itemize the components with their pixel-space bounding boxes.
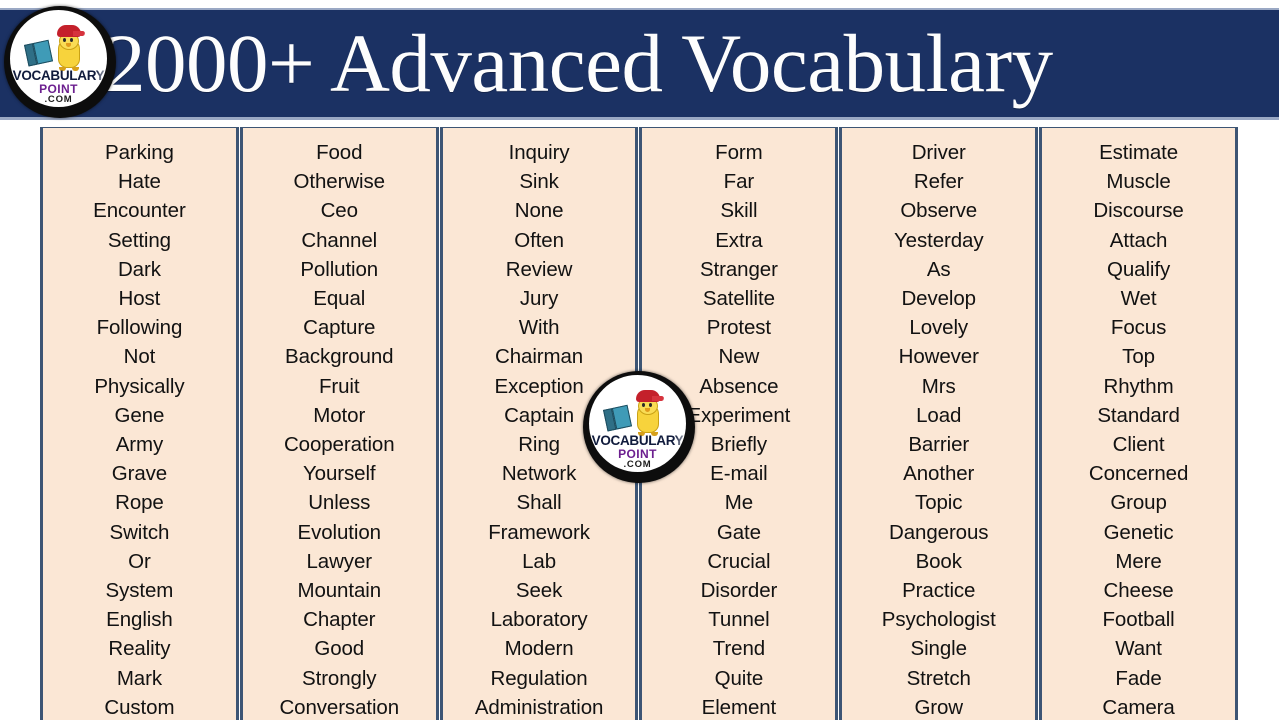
- vocabulary-word: Another: [842, 459, 1035, 488]
- vocabulary-word: English: [43, 605, 236, 634]
- vocabulary-word: Shall: [443, 488, 636, 517]
- vocabulary-word: Yesterday: [842, 226, 1035, 255]
- vocabulary-word: Group: [1042, 488, 1235, 517]
- vocabulary-word: Strongly: [243, 664, 436, 693]
- vocabulary-word: Regulation: [443, 664, 636, 693]
- vocabulary-word: Single: [842, 634, 1035, 663]
- vocabulary-word: Extra: [642, 226, 835, 255]
- vocabulary-word: Gene: [43, 401, 236, 430]
- vocabulary-word: Cooperation: [243, 430, 436, 459]
- vocabulary-word: Stranger: [642, 255, 835, 284]
- vocabulary-word: Concerned: [1042, 459, 1235, 488]
- vocabulary-word: Fruit: [243, 372, 436, 401]
- vocabulary-word: Sink: [443, 167, 636, 196]
- vocabulary-word: Army: [43, 430, 236, 459]
- vocabulary-word: Switch: [43, 518, 236, 547]
- vocabulary-word: Trend: [642, 634, 835, 663]
- vocabulary-word: Or: [43, 547, 236, 576]
- watermark-book-icon: [603, 405, 633, 432]
- vocabulary-word: Motor: [243, 401, 436, 430]
- vocabulary-word: Food: [243, 138, 436, 167]
- vocabulary-word: Often: [443, 226, 636, 255]
- book-icon: [24, 40, 54, 67]
- vocabulary-word: Ceo: [243, 196, 436, 225]
- vocabulary-word: Chairman: [443, 342, 636, 371]
- watermark-bird-mascot-icon: [633, 389, 663, 437]
- vocabulary-word: Psychologist: [842, 605, 1035, 634]
- vocabulary-word: Fade: [1042, 664, 1235, 693]
- logo-disc: VOCABULARY POINT .COM: [10, 10, 107, 107]
- vocabulary-word: Framework: [443, 518, 636, 547]
- vocabulary-word: Rope: [43, 488, 236, 517]
- vocabulary-word: System: [43, 576, 236, 605]
- vocabulary-word: None: [443, 196, 636, 225]
- vocabulary-word: Grow: [842, 693, 1035, 720]
- vocabulary-word: Wet: [1042, 284, 1235, 313]
- logo-text-vocabulary: VOCABULARY: [10, 68, 107, 83]
- vocabulary-word: Element: [642, 693, 835, 720]
- page-title: 2000+ Advanced Vocabulary: [104, 22, 1053, 105]
- vocabulary-word: Crucial: [642, 547, 835, 576]
- vocabulary-word: Background: [243, 342, 436, 371]
- vocabulary-word: Genetic: [1042, 518, 1235, 547]
- vocabulary-word: Quite: [642, 664, 835, 693]
- vocabulary-word: Encounter: [43, 196, 236, 225]
- vocabulary-word: Channel: [243, 226, 436, 255]
- vocabulary-word: Modern: [443, 634, 636, 663]
- vocabulary-word: Me: [642, 488, 835, 517]
- vocabulary-word: Pollution: [243, 255, 436, 284]
- vocabulary-word: Chapter: [243, 605, 436, 634]
- vocabulary-word: Far: [642, 167, 835, 196]
- vocabulary-word: Lab: [443, 547, 636, 576]
- vocabulary-word: Topic: [842, 488, 1035, 517]
- word-column: EstimateMuscleDiscourseAttachQualifyWetF…: [1039, 127, 1238, 720]
- vocabulary-word: Develop: [842, 284, 1035, 313]
- vocabulary-word: Mark: [43, 664, 236, 693]
- vocabulary-word: Host: [43, 284, 236, 313]
- bird-mascot-icon: [54, 24, 84, 72]
- vocabulary-word: Reality: [43, 634, 236, 663]
- vocabulary-word: Equal: [243, 284, 436, 313]
- vocabulary-word: Want: [1042, 634, 1235, 663]
- vocabulary-word: However: [842, 342, 1035, 371]
- vocabulary-word: Book: [842, 547, 1035, 576]
- vocabulary-word: Administration: [443, 693, 636, 720]
- brand-logo-icon: VOCABULARY POINT .COM: [4, 6, 116, 118]
- vocabulary-word: Capture: [243, 313, 436, 342]
- watermark-logo-disc: VOCABULARY POINT .COM: [589, 375, 686, 472]
- vocabulary-word: Practice: [842, 576, 1035, 605]
- vocabulary-word: Setting: [43, 226, 236, 255]
- vocabulary-word: Unless: [243, 488, 436, 517]
- word-column: DriverReferObserveYesterdayAsDevelopLove…: [839, 127, 1038, 720]
- vocabulary-word: Muscle: [1042, 167, 1235, 196]
- vocabulary-word: Parking: [43, 138, 236, 167]
- vocabulary-word: Discourse: [1042, 196, 1235, 225]
- vocabulary-word: Client: [1042, 430, 1235, 459]
- vocabulary-word: Skill: [642, 196, 835, 225]
- watermark-logo-icon: VOCABULARY POINT .COM: [583, 371, 695, 483]
- vocabulary-word: Inquiry: [443, 138, 636, 167]
- vocabulary-word: Dark: [43, 255, 236, 284]
- vocabulary-word: Seek: [443, 576, 636, 605]
- vocabulary-word: Custom: [43, 693, 236, 720]
- vocabulary-word: Mountain: [243, 576, 436, 605]
- vocabulary-word: Hate: [43, 167, 236, 196]
- vocabulary-word: Lovely: [842, 313, 1035, 342]
- vocabulary-word: Physically: [43, 372, 236, 401]
- vocabulary-word: Barrier: [842, 430, 1035, 459]
- vocabulary-word: Not: [43, 342, 236, 371]
- vocabulary-word: Rhythm: [1042, 372, 1235, 401]
- vocabulary-word: Lawyer: [243, 547, 436, 576]
- vocabulary-word: Football: [1042, 605, 1235, 634]
- vocabulary-word: Good: [243, 634, 436, 663]
- watermark-logo-text-vocabulary: VOCABULARY: [589, 433, 686, 448]
- word-column: FoodOtherwiseCeoChannelPollutionEqualCap…: [240, 127, 439, 720]
- vocabulary-word: Grave: [43, 459, 236, 488]
- vocabulary-word: New: [642, 342, 835, 371]
- vocabulary-word: Cheese: [1042, 576, 1235, 605]
- vocabulary-word: Driver: [842, 138, 1035, 167]
- vocabulary-word: Camera: [1042, 693, 1235, 720]
- vocabulary-word: Dangerous: [842, 518, 1035, 547]
- vocabulary-word: Conversation: [243, 693, 436, 720]
- vocabulary-word: Yourself: [243, 459, 436, 488]
- vocabulary-word: Observe: [842, 196, 1035, 225]
- header-banner: 2000+ Advanced Vocabulary: [0, 8, 1279, 120]
- vocabulary-word: Load: [842, 401, 1035, 430]
- vocabulary-word: Review: [443, 255, 636, 284]
- vocabulary-word: As: [842, 255, 1035, 284]
- vocabulary-word: Protest: [642, 313, 835, 342]
- word-column: ParkingHateEncounterSettingDarkHostFollo…: [40, 127, 239, 720]
- vocabulary-word: Tunnel: [642, 605, 835, 634]
- vocabulary-word: Evolution: [243, 518, 436, 547]
- vocabulary-word: Form: [642, 138, 835, 167]
- vocabulary-word: Mrs: [842, 372, 1035, 401]
- vocabulary-word: With: [443, 313, 636, 342]
- vocabulary-word: Satellite: [642, 284, 835, 313]
- vocabulary-word: Gate: [642, 518, 835, 547]
- vocabulary-word: Otherwise: [243, 167, 436, 196]
- vocabulary-word: Focus: [1042, 313, 1235, 342]
- vocabulary-word: Estimate: [1042, 138, 1235, 167]
- vocabulary-word: Mere: [1042, 547, 1235, 576]
- vocabulary-word: Disorder: [642, 576, 835, 605]
- vocabulary-word: Laboratory: [443, 605, 636, 634]
- vocabulary-word: Top: [1042, 342, 1235, 371]
- watermark-logo-text-com: .COM: [589, 459, 686, 470]
- vocabulary-word: Following: [43, 313, 236, 342]
- vocabulary-word: Jury: [443, 284, 636, 313]
- vocabulary-word: Qualify: [1042, 255, 1235, 284]
- logo-text-com: .COM: [10, 94, 107, 105]
- vocabulary-word: Stretch: [842, 664, 1035, 693]
- vocabulary-word: Attach: [1042, 226, 1235, 255]
- vocabulary-word: Refer: [842, 167, 1035, 196]
- vocabulary-worksheet-page: 2000+ Advanced Vocabulary ParkingHateEnc…: [0, 0, 1279, 720]
- vocabulary-word: Standard: [1042, 401, 1235, 430]
